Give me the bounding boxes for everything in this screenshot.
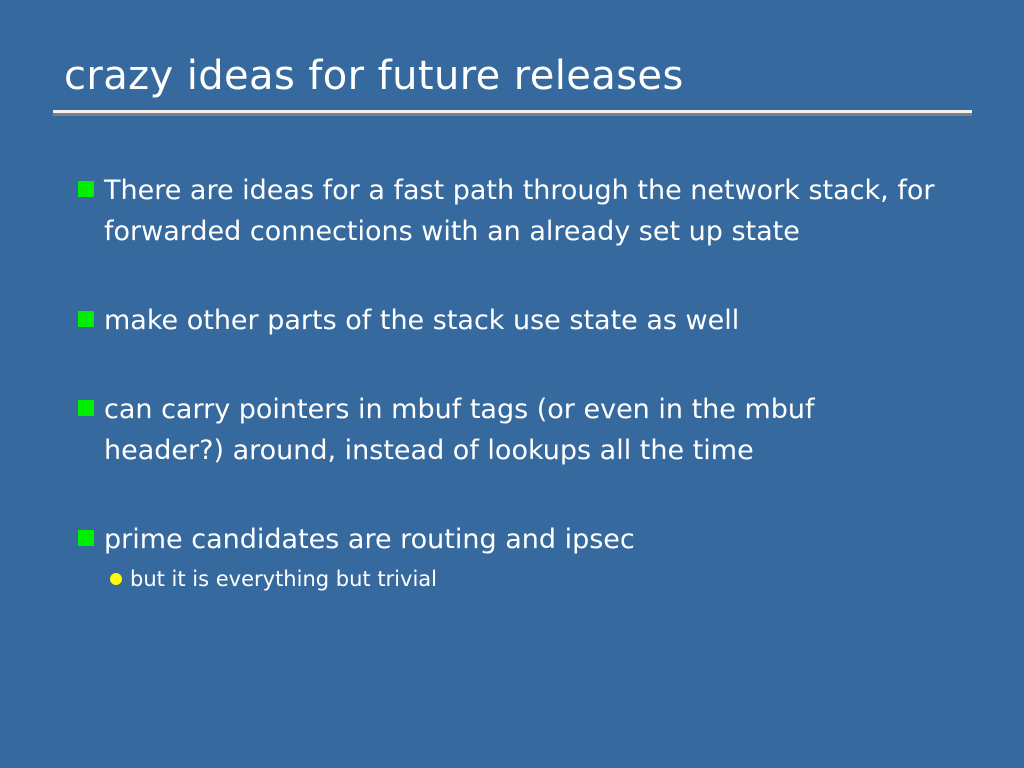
slide-body: There are ideas for a fast path through … xyxy=(78,170,958,594)
list-item-label: make other parts of the stack use state … xyxy=(104,300,739,341)
green-square-bullet-icon xyxy=(78,311,94,327)
list-item-group: prime candidates are routing and ipsec b… xyxy=(78,519,958,594)
list-item: prime candidates are routing and ipsec xyxy=(78,519,958,560)
presentation-slide: crazy ideas for future releases There ar… xyxy=(0,0,1024,768)
list-item: There are ideas for a fast path through … xyxy=(78,170,958,252)
list-item-label: can carry pointers in mbuf tags (or even… xyxy=(104,389,942,471)
sub-list-item-label: but it is everything but trivial xyxy=(130,564,437,594)
page-title: crazy ideas for future releases xyxy=(53,52,973,100)
sub-list-item: but it is everything but trivial xyxy=(110,564,958,594)
slide-title-block: crazy ideas for future releases xyxy=(53,52,973,100)
list-item: can carry pointers in mbuf tags (or even… xyxy=(78,389,958,471)
title-underline-rule xyxy=(53,110,972,116)
green-square-bullet-icon xyxy=(78,400,94,416)
green-square-bullet-icon xyxy=(78,530,94,546)
list-item-label: prime candidates are routing and ipsec xyxy=(104,519,635,560)
yellow-dot-bullet-icon xyxy=(110,573,122,585)
title-rule-shadow xyxy=(53,113,972,116)
list-item: make other parts of the stack use state … xyxy=(78,300,958,341)
list-item-label: There are ideas for a fast path through … xyxy=(104,170,942,252)
green-square-bullet-icon xyxy=(78,181,94,197)
